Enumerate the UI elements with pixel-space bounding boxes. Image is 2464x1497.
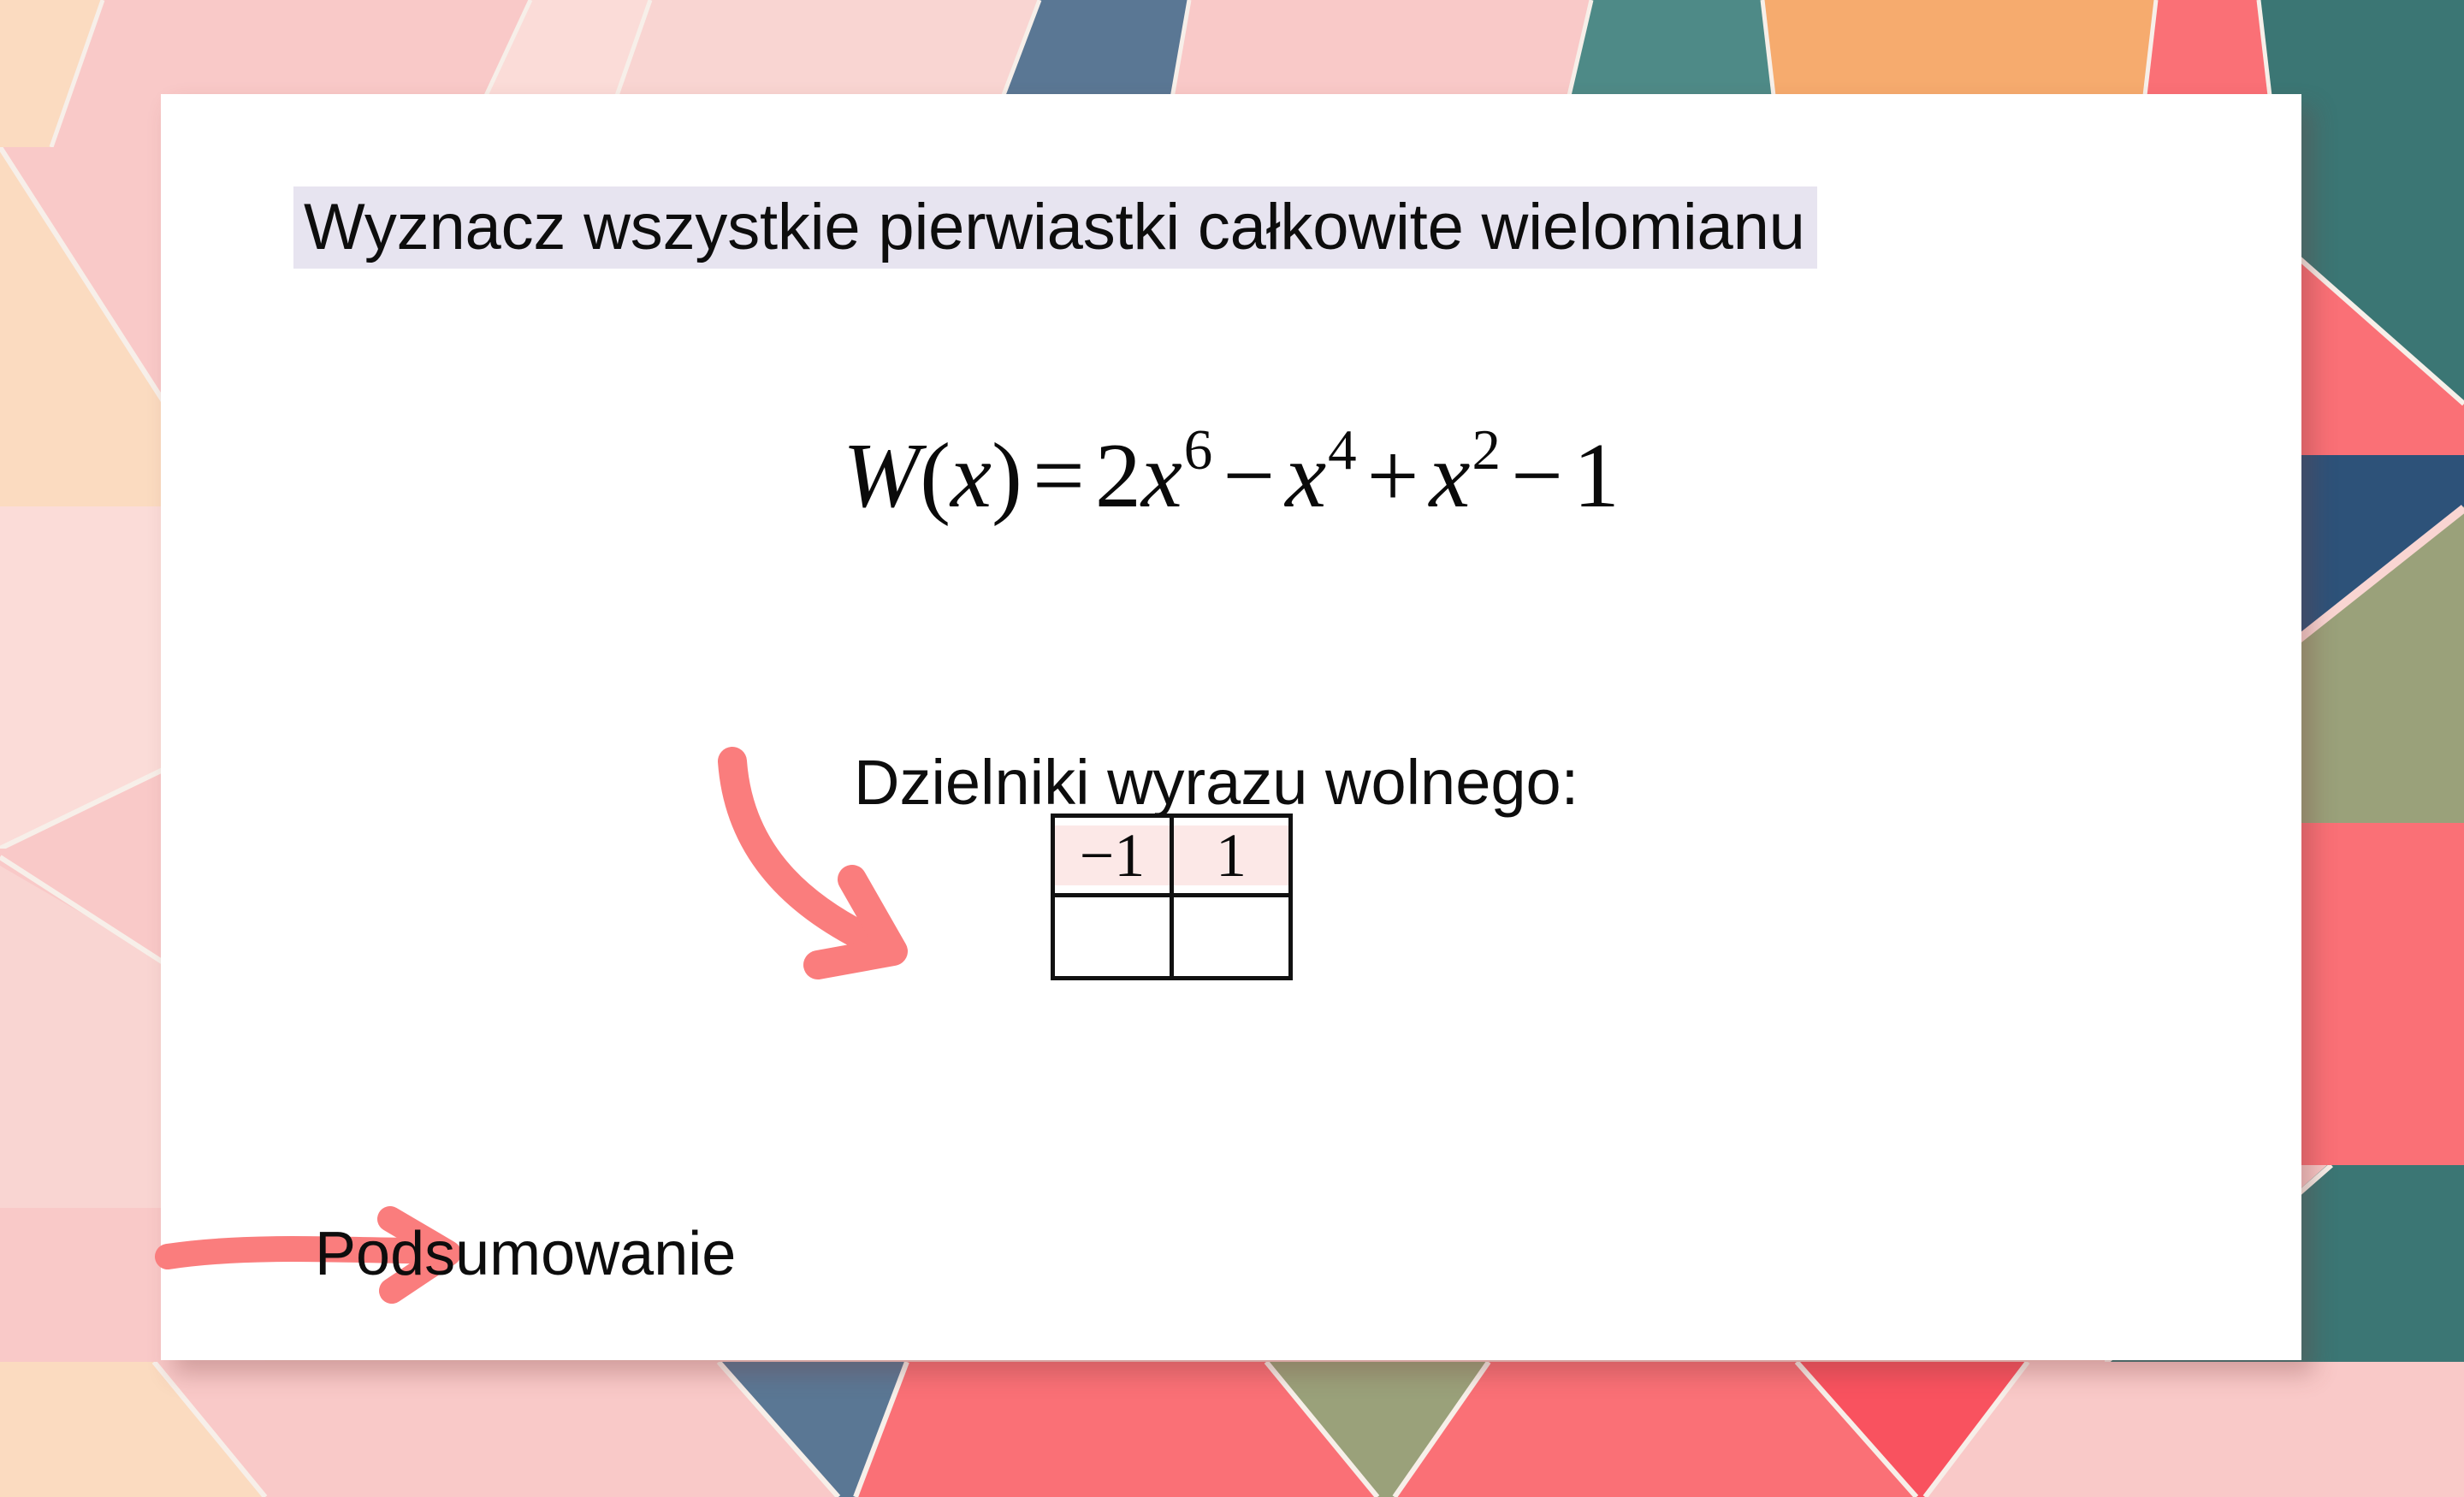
page-title: Wyznacz wszystkie pierwiastki całkowite … <box>293 186 1817 269</box>
divisor-value: 1 <box>1174 818 1288 893</box>
formula-operator-1: − <box>1212 425 1285 527</box>
divisor-cell-negative-one: −1 <box>1053 816 1172 896</box>
formula-row: W(x)=2x6−x4+x2−1 <box>161 428 2301 523</box>
formula-close-paren: ) <box>992 425 1022 527</box>
divisor-cell-one: 1 <box>1172 816 1291 896</box>
formula-operator-2: + <box>1357 425 1430 527</box>
divisors-subtitle: Dzielniki wyrazu wolnego: <box>854 751 1578 814</box>
slide-canvas: Wyznacz wszystkie pierwiastki całkowite … <box>0 0 2464 1497</box>
formula-function-name: W <box>843 425 920 527</box>
formula-operator-3: − <box>1501 425 1573 527</box>
formula-term3-base: x <box>1430 425 1471 527</box>
slide-card: Wyznacz wszystkie pierwiastki całkowite … <box>161 94 2301 1360</box>
background-band-bottom <box>0 1362 2464 1497</box>
formula-equals: = <box>1022 425 1095 527</box>
formula-term1-coefficient: 2 <box>1095 425 1141 527</box>
formula-open-paren: ( <box>920 425 951 527</box>
formula-constant: 1 <box>1573 425 1620 527</box>
divisor-cell-empty-left <box>1053 896 1172 979</box>
table-row: −1 1 <box>1053 816 1291 896</box>
table-row <box>1053 896 1291 979</box>
formula-variable: x <box>951 425 992 527</box>
divisor-value: −1 <box>1055 818 1170 893</box>
formula-term2-base: x <box>1285 425 1326 527</box>
formula-term1-exponent: 6 <box>1182 418 1212 482</box>
formula-term1-base: x <box>1141 425 1182 527</box>
polynomial-formula: W(x)=2x6−x4+x2−1 <box>843 425 1620 527</box>
summary-label: Podsumowanie <box>315 1223 736 1285</box>
formula-term2-exponent: 4 <box>1326 418 1356 482</box>
formula-term3-exponent: 2 <box>1470 418 1500 482</box>
page-title-row: Wyznacz wszystkie pierwiastki całkowite … <box>293 186 2073 269</box>
divisor-cell-empty-right <box>1172 896 1291 979</box>
divisors-table: −1 1 <box>1051 814 1293 980</box>
background-band-bottom-shapes <box>0 1362 2464 1497</box>
